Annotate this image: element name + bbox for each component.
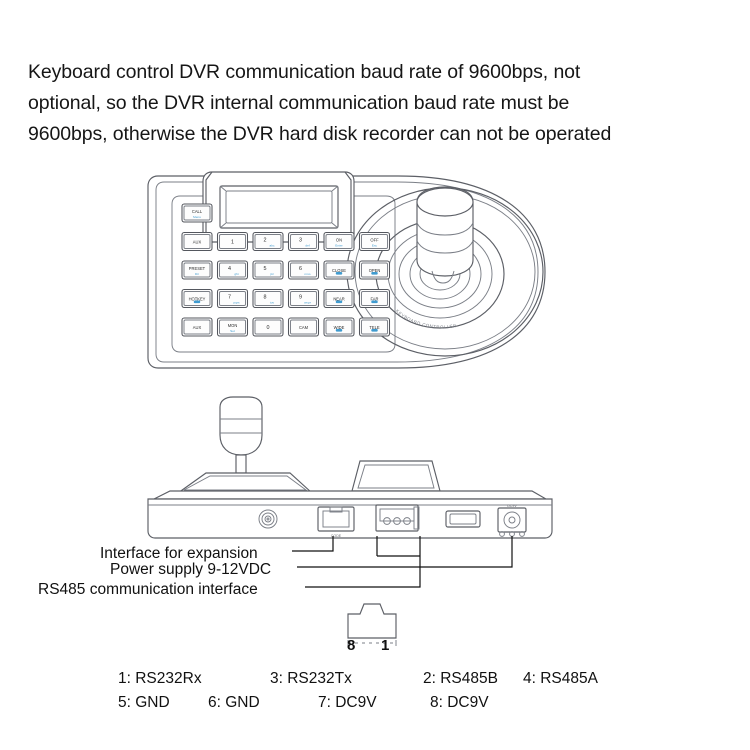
pin-number-right: 1	[381, 637, 389, 654]
key-label: 0	[267, 325, 270, 331]
callout-rs485-interface: RS485 communication interface	[38, 581, 258, 598]
key-sublabel: mno	[304, 272, 310, 276]
rs485-terminal[interactable]	[376, 505, 419, 531]
key-glyph-icon	[336, 329, 342, 332]
key-2-3[interactable]: 2abc	[253, 233, 283, 251]
key-sublabel: pqrs	[233, 301, 239, 305]
key-sublabel: jkl	[270, 272, 274, 276]
key-glyph-icon	[371, 329, 377, 332]
legend-pin-5: 5: GND	[118, 694, 170, 712]
key-sublabel: Enter	[335, 244, 342, 248]
key-4-8[interactable]: 4ghi	[218, 261, 248, 279]
pin-legend: 1: RS232Rx3: RS232Tx2: RS485B4: RS485A5:…	[118, 670, 718, 718]
key-sublabel: abc	[270, 244, 275, 248]
key-aux-19[interactable]: AUX	[182, 318, 212, 336]
key-sublabel: Set	[230, 329, 235, 333]
dc-power-jack[interactable]: DC9V	[498, 504, 526, 536]
brand-text: KEYBOARD CONTROLLER	[395, 308, 457, 329]
key-label: 6	[299, 266, 302, 272]
key-sublabel: ghi	[234, 272, 238, 276]
diagram-page: Keyboard control DVR communication baud …	[0, 0, 750, 750]
key-sublabel: Menu	[193, 215, 201, 219]
legend-pin-4: 4: RS485A	[523, 670, 598, 688]
keyboard-rear-view: CODE DC9V	[140, 395, 560, 545]
key-call-0[interactable]: CALLMenu	[182, 204, 212, 222]
intro-paragraph: Keyboard control DVR communication baud …	[28, 57, 728, 150]
key-7-14[interactable]: 7pqrs	[218, 290, 248, 308]
key-tele-24[interactable]: TELE	[360, 318, 390, 336]
key-hotkey-13[interactable]: HOTKEY	[182, 290, 212, 308]
legend-row-1: 1: RS232Rx3: RS232Tx2: RS485B4: RS485A	[118, 670, 718, 694]
key-mon-20[interactable]: MONSet	[218, 318, 248, 336]
key-label: 8	[264, 294, 267, 300]
key-label: AUX	[193, 240, 202, 245]
callout-power-supply: Power supply 9-12VDC	[110, 561, 271, 578]
key-far-18[interactable]: FAR	[360, 290, 390, 308]
key-label: MON	[228, 323, 238, 328]
key-label: 5	[264, 266, 267, 272]
pin-number-left: 8	[347, 637, 355, 654]
legend-pin-8: 8: DC9V	[430, 694, 489, 712]
dc-jack-label: DC9V	[507, 504, 517, 508]
legend-pin-1: 1: RS232Rx	[118, 670, 202, 688]
key-0-21[interactable]: 0	[253, 318, 283, 336]
key-sublabel: Dir	[195, 272, 199, 276]
key-label: 4	[228, 266, 231, 272]
key-open-12[interactable]: OPEN	[360, 261, 390, 279]
code-port-label: CODE	[331, 534, 342, 538]
keyboard-top-view: KEYBOARD CONTROLLER CALLMenuAUX12abc3def…	[140, 168, 560, 380]
key-3-4[interactable]: 3def	[289, 233, 319, 251]
intro-line-2: optional, so the DVR internal communicat…	[28, 88, 728, 119]
key-cam-22[interactable]: CAM	[289, 318, 319, 336]
key-9-16[interactable]: 9wxyz	[289, 290, 319, 308]
key-label: 1	[231, 240, 234, 246]
key-label: CAM	[299, 325, 309, 330]
key-6-10[interactable]: 6mno	[289, 261, 319, 279]
callout-interface-for-expansion: Interface for expansion	[100, 545, 258, 562]
aux-port[interactable]	[446, 511, 480, 527]
key-label: 7	[228, 294, 231, 300]
legend-row-2: 5: GND6: GND7: DC9V8: DC9V	[118, 694, 718, 718]
key-sublabel: wxyz	[304, 301, 311, 305]
key-glyph-icon	[336, 301, 342, 304]
key-glyph-icon	[336, 272, 342, 275]
key-1-2[interactable]: 1	[218, 233, 248, 251]
key-label: ON	[336, 237, 342, 242]
key-glyph-icon	[194, 301, 200, 304]
key-label: 9	[299, 294, 302, 300]
side-joystick	[220, 397, 262, 473]
key-near-17[interactable]: NEAR	[324, 290, 354, 308]
intro-line-3: 9600bps, otherwise the DVR hard disk rec…	[28, 119, 728, 150]
key-sublabel: def	[305, 244, 309, 248]
legend-pin-3: 3: RS232Tx	[270, 670, 352, 688]
key-5-9[interactable]: 5jkl	[253, 261, 283, 279]
key-aux-1[interactable]: AUX	[182, 233, 212, 251]
key-8-15[interactable]: 8tuv	[253, 290, 283, 308]
key-glyph-icon	[371, 272, 377, 275]
key-wide-23[interactable]: WIDE	[324, 318, 354, 336]
key-sublabel: Esc	[372, 244, 378, 248]
key-label: CALL	[192, 209, 203, 214]
key-label: PRESET	[189, 266, 206, 271]
key-on-5[interactable]: ONEnter	[324, 233, 354, 251]
key-preset-7[interactable]: PRESETDir	[182, 261, 212, 279]
legend-pin-6: 6: GND	[208, 694, 260, 712]
key-off-6[interactable]: OFFEsc	[360, 233, 390, 251]
key-label: 3	[299, 237, 302, 243]
key-sublabel: tuv	[270, 301, 275, 305]
legend-pin-2: 2: RS485B	[423, 670, 498, 688]
key-label: OFF	[370, 237, 379, 242]
key-label: AUX	[193, 325, 202, 330]
key-label: 2	[264, 237, 267, 243]
key-glyph-icon	[371, 301, 377, 304]
key-close-11[interactable]: CLOSE	[324, 261, 354, 279]
intro-line-1: Keyboard control DVR communication baud …	[28, 57, 728, 88]
legend-pin-7: 7: DC9V	[318, 694, 377, 712]
